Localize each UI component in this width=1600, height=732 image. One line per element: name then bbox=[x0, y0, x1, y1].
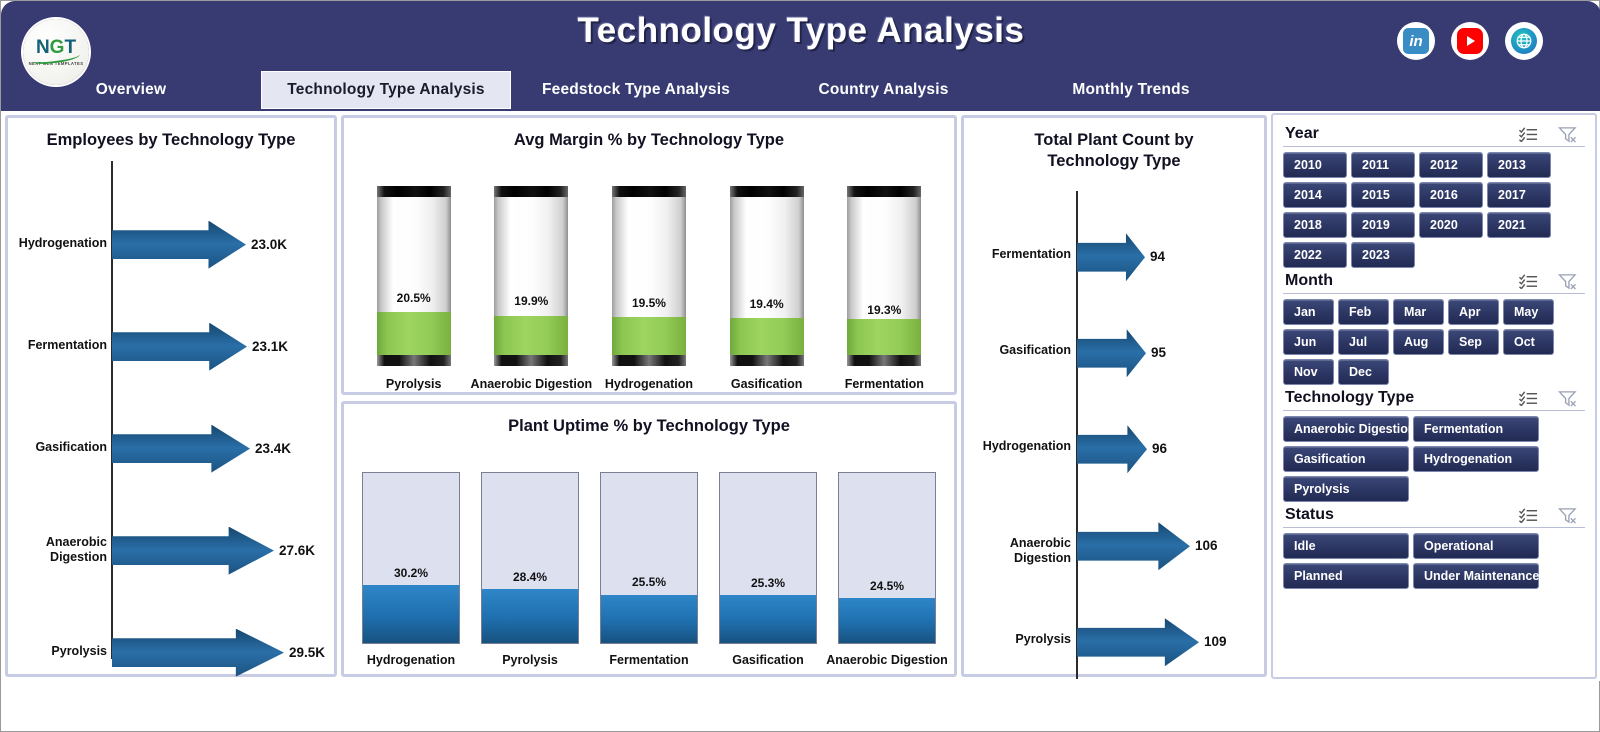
plant-uptime-col-0: 30.2% Hydrogenation bbox=[359, 472, 463, 667]
plant-uptime-fill-1 bbox=[482, 589, 578, 643]
slicer-month-option-may[interactable]: May bbox=[1503, 299, 1554, 325]
plant-uptime-fill-4 bbox=[839, 598, 935, 643]
plant-uptime-bar-chart: 30.2% Hydrogenation 28.4% Pyrolysis 25.5… bbox=[344, 452, 954, 667]
slicer-month-option-apr[interactable]: Apr bbox=[1448, 299, 1499, 325]
avg-margin-cylinder-1[interactable]: 19.9% bbox=[494, 186, 568, 366]
slicer-month-header: Month bbox=[1283, 270, 1585, 294]
multi-select-icon[interactable] bbox=[1519, 390, 1538, 406]
cylinder-bottom-cap bbox=[847, 355, 921, 366]
employees-value-3: 27.6K bbox=[279, 543, 315, 558]
avg-margin-col-4: 19.3% Fermentation bbox=[836, 186, 932, 391]
employees-bar-4[interactable] bbox=[112, 629, 284, 677]
plant-count-value-0: 94 bbox=[1150, 249, 1165, 264]
cylinder-top-cap bbox=[377, 186, 451, 197]
plant-count-bar-2[interactable] bbox=[1077, 425, 1147, 473]
main-navigation: Overview Technology Type Analysis Feedst… bbox=[1, 71, 1600, 111]
plant-uptime-value-0: 30.2% bbox=[363, 566, 459, 580]
slicer-status-option-under-maintenance[interactable]: Under Maintenance bbox=[1413, 563, 1539, 589]
slicer-tech-option-hydrogenation[interactable]: Hydrogenation bbox=[1413, 446, 1539, 472]
plant-count-bar-4[interactable] bbox=[1077, 618, 1199, 666]
slicer-month-option-oct[interactable]: Oct bbox=[1503, 329, 1554, 355]
employees-category-0: Hydrogenation bbox=[12, 236, 107, 251]
avg-margin-category-3: Gasification bbox=[731, 377, 803, 391]
plant-uptime-category-2: Fermentation bbox=[609, 653, 688, 667]
plant-count-value-2: 96 bbox=[1152, 441, 1167, 456]
plant-uptime-bar-4[interactable]: 24.5% bbox=[838, 472, 936, 644]
dashboard-root: NGT NEXT GEN TEMPLATES Technology Type A… bbox=[0, 0, 1600, 732]
avg-margin-col-1: 19.9% Anaerobic Digestion bbox=[483, 186, 579, 391]
slicer-year-option-2022[interactable]: 2022 bbox=[1283, 242, 1347, 268]
slicer-year-option-2021[interactable]: 2021 bbox=[1487, 212, 1551, 238]
plant-count-bar-1[interactable] bbox=[1077, 329, 1146, 377]
employees-bar-1[interactable] bbox=[112, 323, 247, 371]
clear-filter-icon[interactable] bbox=[1558, 126, 1577, 143]
multi-select-icon[interactable] bbox=[1519, 126, 1538, 142]
plant-count-category-4: Pyrolysis bbox=[966, 632, 1071, 647]
avg-margin-value-0: 20.5% bbox=[377, 291, 451, 305]
employees-value-0: 23.0K bbox=[251, 237, 287, 252]
slicer-status-options: Idle Operational Planned Under Maintenan… bbox=[1283, 528, 1585, 589]
slicer-list: Year bbox=[1273, 115, 1595, 589]
cylinder-top-cap bbox=[730, 186, 804, 197]
avg-margin-chart-title: Avg Margin % by Technology Type bbox=[344, 118, 954, 151]
employees-value-1: 23.1K bbox=[252, 339, 288, 354]
slicer-technology-type: Technology Type bbox=[1283, 387, 1585, 502]
employees-category-4: Pyrolysis bbox=[12, 644, 107, 659]
plant-uptime-col-4: 24.5% Anaerobic Digestion bbox=[835, 472, 939, 667]
slicer-month-option-nov[interactable]: Nov bbox=[1283, 359, 1334, 385]
employees-value-4: 29.5K bbox=[289, 645, 325, 660]
slicer-month-option-dec[interactable]: Dec bbox=[1338, 359, 1389, 385]
slicer-tech-option-gasification[interactable]: Gasification bbox=[1283, 446, 1409, 472]
slicer-year-option-2018[interactable]: 2018 bbox=[1283, 212, 1347, 238]
employees-value-2: 23.4K bbox=[255, 441, 291, 456]
cylinder-top-cap bbox=[847, 186, 921, 197]
slicer-year-title: Year bbox=[1285, 125, 1319, 143]
slicer-status: Status bbox=[1283, 504, 1585, 589]
linkedin-button[interactable]: in bbox=[1397, 22, 1435, 60]
avg-margin-col-2: 19.5% Hydrogenation bbox=[601, 186, 697, 391]
globe-icon bbox=[1511, 28, 1537, 54]
slicer-technology-type-icons bbox=[1519, 390, 1583, 407]
plant-count-category-2: Hydrogenation bbox=[966, 439, 1071, 454]
avg-margin-cylinder-4[interactable]: 19.3% bbox=[847, 186, 921, 366]
slicer-year-option-2012[interactable]: 2012 bbox=[1419, 152, 1483, 178]
slicer-year-option-2020[interactable]: 2020 bbox=[1419, 212, 1483, 238]
plant-uptime-bar-1[interactable]: 28.4% bbox=[481, 472, 579, 644]
plant-uptime-category-3: Gasification bbox=[732, 653, 804, 667]
slicer-month: Month bbox=[1283, 270, 1585, 385]
avg-margin-category-0: Pyrolysis bbox=[386, 377, 442, 391]
tab-overview[interactable]: Overview bbox=[1, 71, 261, 109]
plant-count-category-3: Anaerobic Digestion bbox=[966, 536, 1071, 566]
cylinder-top-cap bbox=[494, 186, 568, 197]
slicer-month-option-aug[interactable]: Aug bbox=[1393, 329, 1444, 355]
avg-margin-chart-panel: Avg Margin % by Technology Type 20.5% Py… bbox=[341, 115, 957, 395]
slicer-status-option-operational[interactable]: Operational bbox=[1413, 533, 1539, 559]
plant-uptime-value-1: 28.4% bbox=[482, 570, 578, 584]
avg-margin-value-3: 19.4% bbox=[730, 297, 804, 311]
slicer-year-option-2011[interactable]: 2011 bbox=[1351, 152, 1415, 178]
avg-margin-cylinder-chart: 20.5% Pyrolysis 19.9% Anaerobic Digestio… bbox=[344, 166, 954, 391]
tab-technology-type-analysis[interactable]: Technology Type Analysis bbox=[261, 71, 511, 109]
slicer-year-header: Year bbox=[1283, 123, 1585, 147]
slicer-month-option-feb[interactable]: Feb bbox=[1338, 299, 1389, 325]
plant-count-category-1: Gasification bbox=[966, 343, 1071, 358]
avg-margin-cylinder-0[interactable]: 20.5% bbox=[377, 186, 451, 366]
multi-select-icon[interactable] bbox=[1519, 507, 1538, 523]
avg-margin-value-4: 19.3% bbox=[847, 303, 921, 317]
avg-margin-value-2: 19.5% bbox=[612, 296, 686, 310]
plant-uptime-col-1: 28.4% Pyrolysis bbox=[478, 472, 582, 667]
slicer-status-option-planned[interactable]: Planned bbox=[1283, 563, 1409, 589]
slicer-status-title: Status bbox=[1285, 506, 1334, 524]
cylinder-bottom-cap bbox=[494, 355, 568, 366]
tab-country-analysis[interactable]: Country Analysis bbox=[761, 71, 1006, 109]
plant-uptime-bar-0[interactable]: 30.2% bbox=[362, 472, 460, 644]
tab-monthly-trends[interactable]: Monthly Trends bbox=[1006, 71, 1256, 109]
slicer-year: Year bbox=[1283, 123, 1585, 268]
plant-uptime-fill-3 bbox=[720, 595, 816, 643]
slicer-year-option-2015[interactable]: 2015 bbox=[1351, 182, 1415, 208]
avg-margin-category-1: Anaerobic Digestion bbox=[471, 377, 593, 391]
slicer-month-option-sep[interactable]: Sep bbox=[1448, 329, 1499, 355]
slicer-status-icons bbox=[1519, 507, 1583, 524]
plant-uptime-col-3: 25.3% Gasification bbox=[716, 472, 820, 667]
slicer-year-option-2023[interactable]: 2023 bbox=[1351, 242, 1415, 268]
report-canvas: Employees by Technology Type Hydrogenati… bbox=[1, 111, 1600, 681]
slicer-year-option-2019[interactable]: 2019 bbox=[1351, 212, 1415, 238]
plant-count-value-1: 95 bbox=[1151, 345, 1166, 360]
youtube-button[interactable] bbox=[1451, 22, 1489, 60]
plant-uptime-category-0: Hydrogenation bbox=[367, 653, 455, 667]
slicer-technology-type-header: Technology Type bbox=[1283, 387, 1585, 411]
employees-arrow-chart: Hydrogenation 23.0K Fermentation 23.1K G… bbox=[8, 151, 334, 665]
slicer-year-icons bbox=[1519, 126, 1583, 143]
slicer-technology-type-options: Anaerobic Digestion Fermentation Gasific… bbox=[1283, 411, 1585, 502]
slicer-year-option-2014[interactable]: 2014 bbox=[1283, 182, 1347, 208]
cylinder-bottom-cap bbox=[730, 355, 804, 366]
clear-filter-icon[interactable] bbox=[1558, 390, 1577, 407]
employees-category-1: Fermentation bbox=[12, 338, 107, 353]
avg-margin-col-0: 20.5% Pyrolysis bbox=[366, 186, 462, 391]
page-title: Technology Type Analysis bbox=[1, 11, 1600, 51]
play-triangle-icon bbox=[1467, 36, 1475, 46]
employees-bar-2[interactable] bbox=[112, 425, 250, 473]
avg-margin-category-2: Hydrogenation bbox=[605, 377, 693, 391]
social-links: in bbox=[1397, 22, 1543, 60]
plant-uptime-category-1: Pyrolysis bbox=[502, 653, 558, 667]
cylinder-bottom-cap bbox=[612, 355, 686, 366]
plant-uptime-value-4: 24.5% bbox=[839, 579, 935, 593]
plant-uptime-chart-panel: Plant Uptime % by Technology Type 30.2% … bbox=[341, 401, 957, 677]
slicer-technology-type-title: Technology Type bbox=[1285, 389, 1414, 407]
slicer-month-icons bbox=[1519, 273, 1583, 290]
cylinder-top-cap bbox=[612, 186, 686, 197]
slicer-tech-option-fermentation[interactable]: Fermentation bbox=[1413, 416, 1539, 442]
employees-chart-title: Employees by Technology Type bbox=[8, 118, 334, 151]
plant-count-category-0: Fermentation bbox=[966, 247, 1071, 262]
filter-panel: Year bbox=[1271, 113, 1597, 679]
slicer-month-option-jan[interactable]: Jan bbox=[1283, 299, 1334, 325]
cylinder-bottom-cap bbox=[377, 355, 451, 366]
tab-feedstock-type-analysis[interactable]: Feedstock Type Analysis bbox=[511, 71, 761, 109]
slicer-month-options: Jan Feb Mar Apr May Jun Jul Aug Sep Oct … bbox=[1283, 294, 1585, 385]
plant-uptime-col-2: 25.5% Fermentation bbox=[597, 472, 701, 667]
slicer-month-title: Month bbox=[1285, 272, 1333, 290]
slicer-month-option-mar[interactable]: Mar bbox=[1393, 299, 1444, 325]
plant-uptime-bar-2[interactable]: 25.5% bbox=[600, 472, 698, 644]
slicer-year-option-2017[interactable]: 2017 bbox=[1487, 182, 1551, 208]
clear-filter-icon[interactable] bbox=[1558, 507, 1577, 524]
slicer-month-option-jun[interactable]: Jun bbox=[1283, 329, 1334, 355]
employees-category-2: Gasification bbox=[12, 440, 107, 455]
employees-bar-0[interactable] bbox=[112, 221, 246, 269]
plant-uptime-category-4: Anaerobic Digestion bbox=[826, 653, 948, 667]
employees-chart-panel: Employees by Technology Type Hydrogenati… bbox=[5, 115, 337, 677]
plant-count-value-3: 106 bbox=[1195, 538, 1218, 553]
slicer-tech-option-pyrolysis[interactable]: Pyrolysis bbox=[1283, 476, 1409, 502]
plant-uptime-value-2: 25.5% bbox=[601, 575, 697, 589]
linkedin-icon: in bbox=[1403, 28, 1429, 54]
avg-margin-value-1: 19.9% bbox=[494, 294, 568, 308]
multi-select-icon[interactable] bbox=[1519, 273, 1538, 289]
plant-count-arrow-chart: Fermentation 94 Gasification 95 Hydrogen… bbox=[964, 171, 1264, 685]
website-button[interactable] bbox=[1505, 22, 1543, 60]
employees-bar-3[interactable] bbox=[112, 527, 274, 575]
slicer-year-option-2013[interactable]: 2013 bbox=[1487, 152, 1551, 178]
plant-count-chart-title: Total Plant Count by Technology Type bbox=[964, 118, 1264, 171]
slicer-month-option-jul[interactable]: Jul bbox=[1338, 329, 1389, 355]
slicer-year-options: 2010 2011 2012 2013 2014 2015 2016 2017 … bbox=[1283, 147, 1585, 268]
youtube-icon bbox=[1457, 28, 1483, 54]
avg-margin-cylinder-2[interactable]: 19.5% bbox=[612, 186, 686, 366]
plant-uptime-fill-2 bbox=[601, 595, 697, 643]
plant-uptime-fill-0 bbox=[363, 585, 459, 643]
plant-count-chart-panel: Total Plant Count by Technology Type Fer… bbox=[961, 115, 1267, 677]
plant-count-bar-3[interactable] bbox=[1077, 522, 1190, 570]
plant-uptime-chart-title: Plant Uptime % by Technology Type bbox=[344, 404, 954, 437]
avg-margin-cylinder-3[interactable]: 19.4% bbox=[730, 186, 804, 366]
plant-uptime-bar-3[interactable]: 25.3% bbox=[719, 472, 817, 644]
slicer-year-option-2016[interactable]: 2016 bbox=[1419, 182, 1483, 208]
clear-filter-icon[interactable] bbox=[1558, 273, 1577, 290]
slicer-status-option-idle[interactable]: Idle bbox=[1283, 533, 1409, 559]
app-header: NGT NEXT GEN TEMPLATES Technology Type A… bbox=[1, 1, 1600, 111]
plant-uptime-value-3: 25.3% bbox=[720, 576, 816, 590]
slicer-year-option-2010[interactable]: 2010 bbox=[1283, 152, 1347, 178]
plant-count-value-4: 109 bbox=[1204, 634, 1227, 649]
avg-margin-col-3: 19.4% Gasification bbox=[719, 186, 815, 391]
avg-margin-category-4: Fermentation bbox=[845, 377, 924, 391]
employees-category-3: Anaerobic Digestion bbox=[12, 535, 107, 565]
slicer-status-header: Status bbox=[1283, 504, 1585, 528]
slicer-tech-option-anaerobic-digestion[interactable]: Anaerobic Digestion bbox=[1283, 416, 1409, 442]
plant-count-bar-0[interactable] bbox=[1077, 233, 1145, 281]
